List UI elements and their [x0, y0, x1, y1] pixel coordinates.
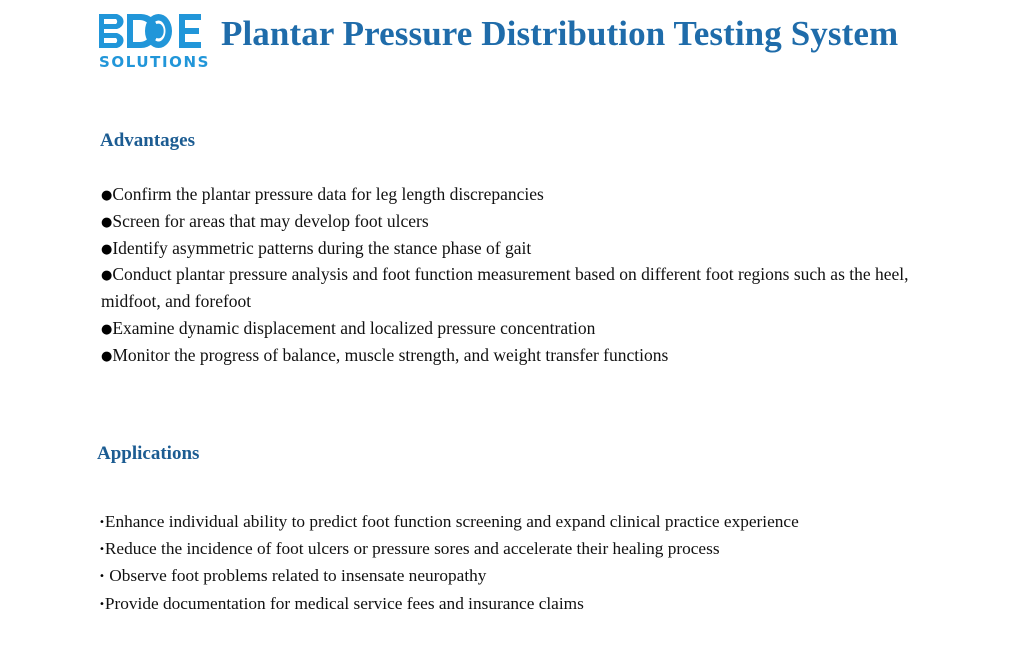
- list-item: ●Examine dynamic displacement and locali…: [101, 315, 946, 342]
- list-item: • Observe foot problems related to insen…: [99, 562, 944, 589]
- logo-tagline-text: SOLUTIONS: [99, 53, 210, 70]
- list-item-text: Enhance individual ability to predict fo…: [105, 512, 799, 531]
- list-item-text: Confirm the plantar pressure data for le…: [112, 184, 544, 204]
- list-item: ●Screen for areas that may develop foot …: [101, 208, 946, 235]
- bullet-circle-icon: ●: [101, 189, 112, 202]
- list-item: •Provide documentation for medical servi…: [99, 590, 944, 617]
- list-item-text: Monitor the progress of balance, muscle …: [112, 345, 668, 365]
- logo-mark-icon: SOLUTIONS: [97, 12, 212, 70]
- bullet-dot-icon: •: [99, 600, 105, 610]
- bullet-dot-icon: •: [99, 572, 105, 582]
- page-title: Plantar Pressure Distribution Testing Sy…: [221, 13, 898, 55]
- bullet-circle-icon: ●: [101, 323, 112, 336]
- list-item: ●Confirm the plantar pressure data for l…: [101, 181, 946, 208]
- list-item: ●Identify asymmetric patterns during the…: [101, 235, 946, 262]
- list-item-text: Provide documentation for medical servic…: [105, 594, 584, 613]
- list-item-text: Reduce the incidence of foot ulcers or p…: [105, 539, 720, 558]
- bullet-circle-icon: ●: [101, 216, 112, 229]
- list-item-text: Observe foot problems related to insensa…: [105, 566, 487, 585]
- applications-list: •Enhance individual ability to predict f…: [99, 508, 944, 617]
- list-item-text: Conduct plantar pressure analysis and fo…: [101, 264, 909, 311]
- list-item: •Reduce the incidence of foot ulcers or …: [99, 535, 944, 562]
- page-header: SOLUTIONS Plantar Pressure Distribution …: [0, 0, 1024, 80]
- list-item: ●Monitor the progress of balance, muscle…: [101, 342, 946, 369]
- section-heading-advantages: Advantages: [100, 130, 195, 152]
- list-item: ●Conduct plantar pressure analysis and f…: [101, 261, 946, 315]
- bdoe-solutions-logo: SOLUTIONS: [97, 12, 212, 70]
- bullet-circle-icon: ●: [101, 243, 112, 256]
- bullet-dot-icon: •: [99, 545, 105, 555]
- bullet-dot-icon: •: [99, 518, 105, 528]
- bullet-circle-icon: ●: [101, 350, 112, 363]
- bullet-circle-icon: ●: [101, 269, 112, 282]
- advantages-list: ●Confirm the plantar pressure data for l…: [101, 181, 946, 369]
- list-item-text: Examine dynamic displacement and localiz…: [112, 318, 595, 338]
- list-item: •Enhance individual ability to predict f…: [99, 508, 944, 535]
- section-heading-applications: Applications: [97, 443, 199, 465]
- list-item-text: Identify asymmetric patterns during the …: [112, 238, 531, 258]
- list-item-text: Screen for areas that may develop foot u…: [112, 211, 428, 231]
